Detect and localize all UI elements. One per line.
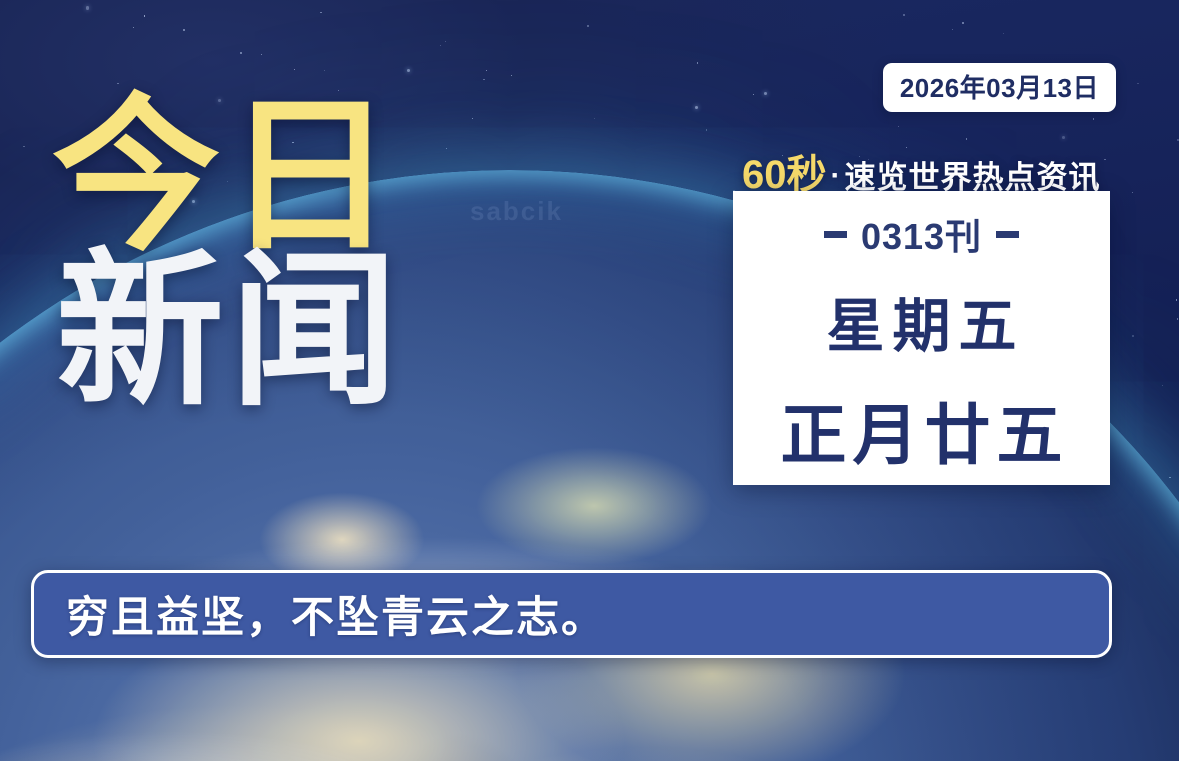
quote-text: 穷且益坚，不坠青云之志。 xyxy=(66,583,606,645)
lunar-date-label: 正月廿五 xyxy=(775,382,1069,478)
issue-info-card: 0313刊 星期五 正月廿五 xyxy=(733,191,1110,485)
tagline-separator: · xyxy=(827,159,845,192)
page-title: 今日 新闻 xyxy=(52,96,404,413)
weekday-label: 星期五 xyxy=(818,279,1024,363)
quote-banner: 穷且益坚，不坠青云之志。 xyxy=(31,570,1112,658)
page-title-line-2: 新闻 xyxy=(56,251,404,412)
watermark-text: sabcik xyxy=(470,196,563,227)
tagline-description: 速览世界热点资讯 xyxy=(845,160,1101,195)
dash-left-icon xyxy=(824,231,847,238)
page-title-line-1: 今日 xyxy=(52,96,404,257)
dash-right-icon xyxy=(996,231,1019,238)
issue-label: 0313刊 xyxy=(861,208,982,260)
issue-label-row: 0313刊 xyxy=(824,208,1019,260)
news-poster: sabcik 今日 新闻 2026年03月13日 60秒·速览世界热点资讯 03… xyxy=(0,0,1179,761)
date-badge: 2026年03月13日 xyxy=(883,63,1116,112)
